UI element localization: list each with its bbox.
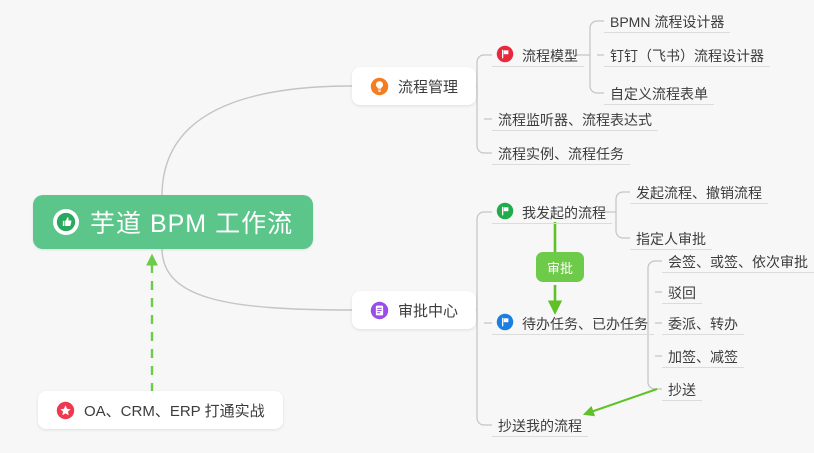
branch-node-process-management[interactable]: 流程管理 [352,67,476,105]
node-label-todo-tasks: 待办任务、已办任务 [522,317,648,331]
star-circle-icon [56,401,75,420]
node-label-cc-my-process: 抄送我的流程 [498,419,582,433]
node-delegate-transfer[interactable]: 委派、转办 [662,311,744,335]
node-label-dingtalk-designer: 钉钉（飞书）流程设计器 [610,49,764,63]
node-label-bpmn-designer: BPMN 流程设计器 [610,15,724,29]
root-node[interactable]: 芋道 BPM 工作流 [33,195,313,249]
node-process-listener[interactable]: 流程监听器、流程表达式 [492,107,658,131]
node-label-reject: 驳回 [668,286,696,300]
connector-spine-process-management [477,55,484,153]
connector-spine-my-processes [616,192,623,238]
node-label-delegate-transfer: 委派、转办 [668,317,738,331]
document-circle-icon [370,301,389,320]
node-label-custom-form: 自定义流程表单 [610,87,708,101]
flag-circle-icon [496,313,514,331]
badge-approval[interactable]: 审批 [536,252,584,282]
node-label-process-listener: 流程监听器、流程表达式 [498,113,652,127]
branch-label-approval-center: 审批中心 [398,300,458,321]
cc-reference-arrow [585,389,657,414]
node-label-process-instance: 流程实例、流程任务 [498,147,624,161]
node-label-my-processes: 我发起的流程 [522,206,606,220]
branch-node-approval-center[interactable]: 审批中心 [352,291,476,329]
node-assignee-approval[interactable]: 指定人审批 [630,226,712,250]
flag-circle-icon [496,202,514,220]
thumbs-up-icon [53,209,79,235]
node-reject[interactable]: 驳回 [662,280,702,304]
node-countersign[interactable]: 会签、或签、依次审批 [662,249,814,273]
node-start-cancel-process[interactable]: 发起流程、撤销流程 [630,180,768,204]
node-label-assignee-approval: 指定人审批 [636,232,706,246]
node-label-cc: 抄送 [668,383,696,397]
node-process-instance[interactable]: 流程实例、流程任务 [492,141,630,165]
node-label-countersign: 会签、或签、依次审批 [668,255,808,269]
connector-root-to-approval-center [162,248,352,310]
node-label-process-model: 流程模型 [522,49,578,63]
node-custom-form[interactable]: 自定义流程表单 [604,81,714,105]
flag-circle-icon [496,45,514,63]
node-my-processes[interactable]: 我发起的流程 [492,200,612,224]
mindmap-canvas: 芋道 BPM 工作流 流程管理 流程模型 流程监听器、流程表达式 流程实例、流 [0,0,814,453]
node-todo-tasks[interactable]: 待办任务、已办任务 [492,311,654,335]
badge-approval-label: 审批 [547,258,573,277]
footnote-label-integration: OA、CRM、ERP 打通实战 [84,400,265,421]
node-label-add-remove-sign: 加签、减签 [668,350,738,364]
connector-spine-process-model [590,21,597,93]
connector-root-to-process-management [162,86,352,196]
node-cc[interactable]: 抄送 [662,377,702,401]
node-label-start-cancel-process: 发起流程、撤销流程 [636,186,762,200]
lightbulb-circle-icon [370,77,389,96]
node-bpmn-designer[interactable]: BPMN 流程设计器 [604,9,730,33]
footnote-node-integration[interactable]: OA、CRM、ERP 打通实战 [38,391,283,429]
branch-label-process-management: 流程管理 [398,76,458,97]
node-dingtalk-designer[interactable]: 钉钉（飞书）流程设计器 [604,43,770,67]
node-cc-my-process[interactable]: 抄送我的流程 [492,413,588,437]
node-add-remove-sign[interactable]: 加签、减签 [662,344,744,368]
root-label: 芋道 BPM 工作流 [90,204,293,240]
node-process-model[interactable]: 流程模型 [492,43,584,67]
connector-spine-approval-center [477,212,484,425]
